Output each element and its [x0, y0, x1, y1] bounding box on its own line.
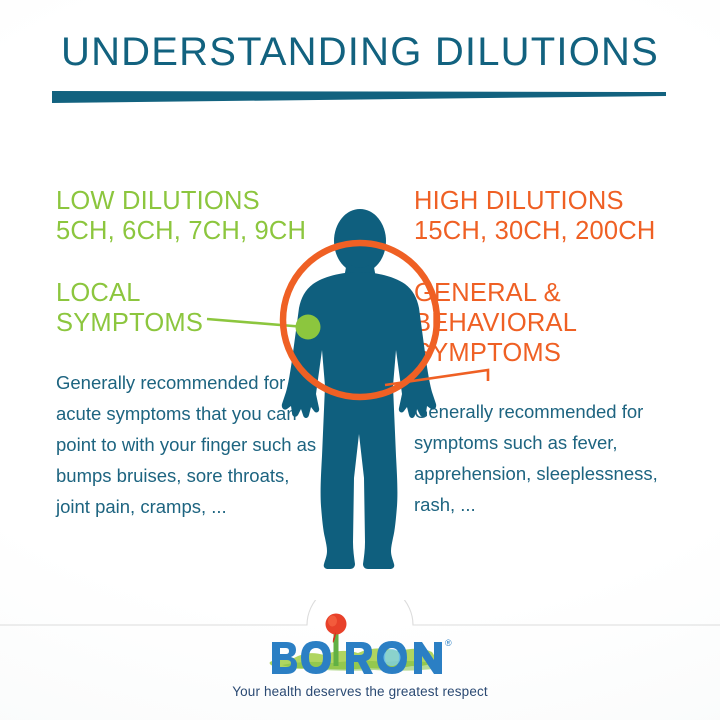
low-dilutions-heading-line1: LOW DILUTIONS — [56, 187, 260, 215]
low-dilutions-heading: LOW DILUTIONS 5CH, 6CH, 7CH, 9CH — [56, 186, 306, 246]
general-symptoms-line3: SYMPTOMS — [414, 338, 577, 368]
low-dilutions-values: 5CH, 6CH, 7CH, 9CH — [56, 216, 306, 246]
infographic-poster: UNDERSTANDING DILUTIONS LOW DILUTIONS 5C… — [0, 0, 720, 720]
high-dilutions-description: Generally recommended for symptoms such … — [414, 396, 682, 520]
page-title: UNDERSTANDING DILUTIONS — [0, 30, 720, 75]
logo-water-drop-icon — [384, 649, 401, 666]
general-symptoms-subheading: GENERAL & BEHAVIORAL SYMPTOMS — [414, 278, 577, 368]
high-dilutions-heading-line1: HIGH DILUTIONS — [414, 187, 624, 215]
high-dilutions-heading: HIGH DILUTIONS 15CH, 30CH, 200CH — [414, 186, 656, 246]
title-underline-wedge — [52, 90, 666, 106]
local-symptoms-leader-line — [207, 319, 305, 327]
logo-registered-mark: ® — [445, 638, 452, 648]
general-symptoms-line1: GENERAL & — [414, 278, 577, 308]
high-dilutions-values: 15CH, 30CH, 200CH — [414, 216, 656, 246]
boiron-logo: ® — [262, 612, 462, 680]
brand-tagline: Your health deserves the greatest respec… — [0, 684, 720, 699]
local-symptoms-line1: LOCAL — [56, 278, 203, 308]
local-symptoms-line2: SYMPTOMS — [56, 308, 203, 338]
low-dilutions-description: Generally recommended for acute symptoms… — [56, 367, 318, 522]
general-symptoms-leader-line — [385, 370, 488, 385]
general-symptoms-line2: BEHAVIORAL — [414, 308, 577, 338]
local-symptoms-subheading: LOCAL SYMPTOMS — [56, 278, 203, 338]
local-symptom-marker-dot — [296, 315, 321, 340]
